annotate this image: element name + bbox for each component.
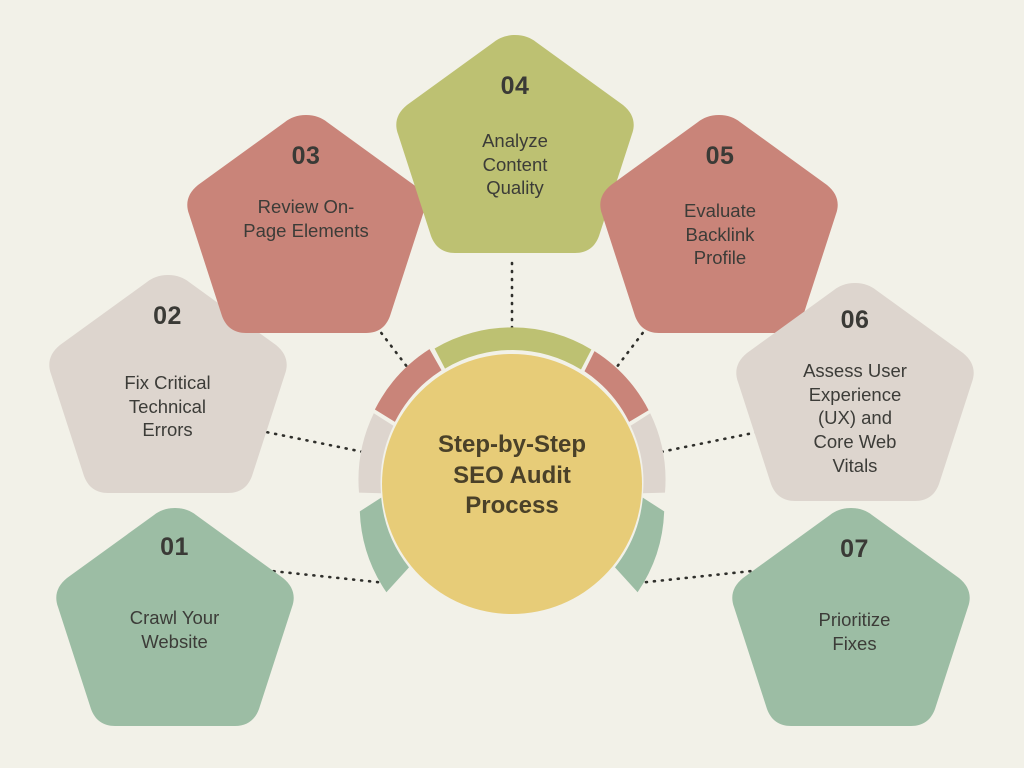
step-label-06: Assess User Experience (UX) and Core Web… <box>803 359 907 477</box>
step-node-04[interactable]: 04 Analyze Content Quality <box>397 32 633 264</box>
step-node-01[interactable]: 01 Crawl Your Website <box>57 505 292 720</box>
step-number-04: 04 <box>501 74 530 99</box>
step-label-04: Analyze Content Quality <box>482 129 548 200</box>
step-node-03[interactable]: 03 Review On- Page Elements <box>182 112 430 344</box>
step-node-07[interactable]: 07 Prioritize Fixes <box>733 505 976 720</box>
infographic-canvas: 01 Crawl Your Website 02 Fix Critical Te… <box>0 0 1024 768</box>
step-label-03: Review On- Page Elements <box>243 195 368 242</box>
step-label-01: Crawl Your Website <box>130 606 219 653</box>
step-number-02: 02 <box>153 304 182 329</box>
step-number-03: 03 <box>292 144 321 169</box>
step-number-01: 01 <box>160 535 189 560</box>
step-label-05: Evaluate Backlink Profile <box>684 199 756 270</box>
center-title: Step-by-Step SEO Audit Process <box>382 430 642 522</box>
step-number-06: 06 <box>841 308 870 333</box>
step-label-02: Fix Critical Technical Errors <box>124 371 210 442</box>
step-label-07: Prioritize Fixes <box>819 608 891 655</box>
step-number-05: 05 <box>706 144 735 169</box>
step-node-06[interactable]: 06 Assess User Experience (UX) and Core … <box>730 280 980 516</box>
step-number-07: 07 <box>840 537 869 562</box>
